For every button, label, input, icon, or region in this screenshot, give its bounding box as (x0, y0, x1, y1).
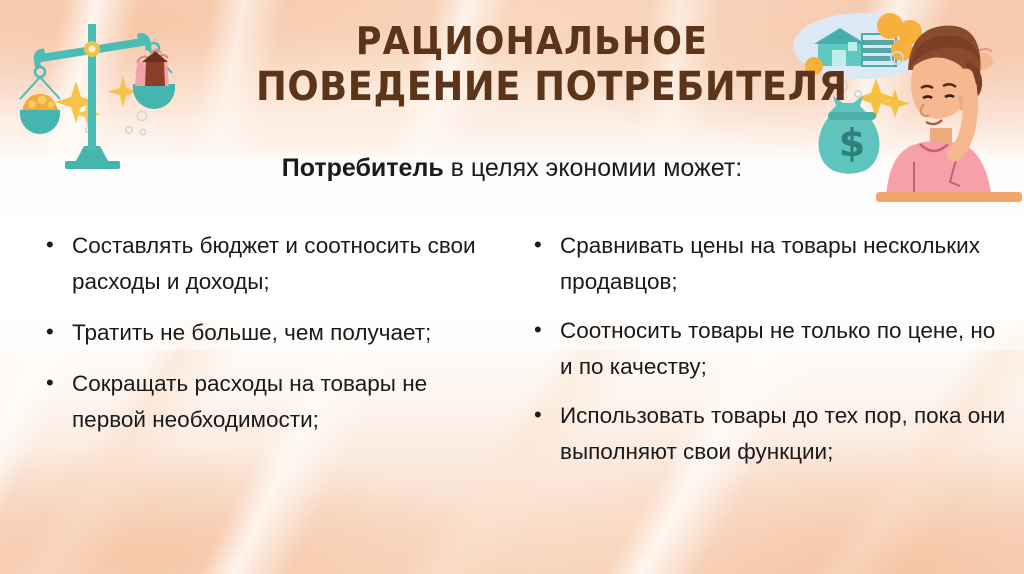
left-bullet-column: Составлять бюджет и соотносить свои расх… (0, 228, 512, 558)
subtitle-bold-word: Потребитель (282, 154, 444, 182)
scale-pan-bags (133, 43, 175, 109)
list-item: Соотносить товары не только по цене, но … (530, 313, 1012, 385)
shopping-bags (135, 50, 169, 86)
right-bullet-column: Сравнивать цены на товары нескольких про… (512, 228, 1024, 558)
title-line-1: РАЦИОНАЛЬНОЕ (256, 18, 808, 64)
scale-base (65, 161, 120, 169)
left-bullet-list: Составлять бюджет и соотносить свои расх… (42, 228, 496, 438)
right-bullet-list: Сравнивать цены на товары нескольких про… (530, 228, 1012, 470)
slide-subtitle: Потребитель в целях экономии может: (152, 152, 872, 184)
list-item: Сокращать расходы на товары не первой не… (42, 366, 496, 438)
list-item: Использовать товары до тех пор, пока они… (530, 398, 1012, 470)
title-line-2: ПОВЕДЕНИЕ ПОТРЕБИТЕЛЯ (256, 64, 808, 110)
list-item: Составлять бюджет и соотносить свои расх… (42, 228, 496, 300)
list-item: Тратить не больше, чем получает; (42, 315, 496, 351)
subtitle-rest: в целях экономии может: (444, 154, 743, 182)
scale-sparkles (55, 76, 139, 127)
list-item: Сравнивать цены на товары нескольких про… (530, 228, 1012, 300)
slide-title: РАЦИОНАЛЬНОЕ ПОВЕДЕНИЕ ПОТРЕБИТЕЛЯ (232, 18, 832, 110)
scale-pan-coins (20, 67, 60, 134)
slide-canvas: $ (0, 0, 1024, 574)
bullet-columns: Составлять бюджет и соотносить свои расх… (0, 228, 1024, 558)
balance-scale-illustration (6, 6, 221, 216)
